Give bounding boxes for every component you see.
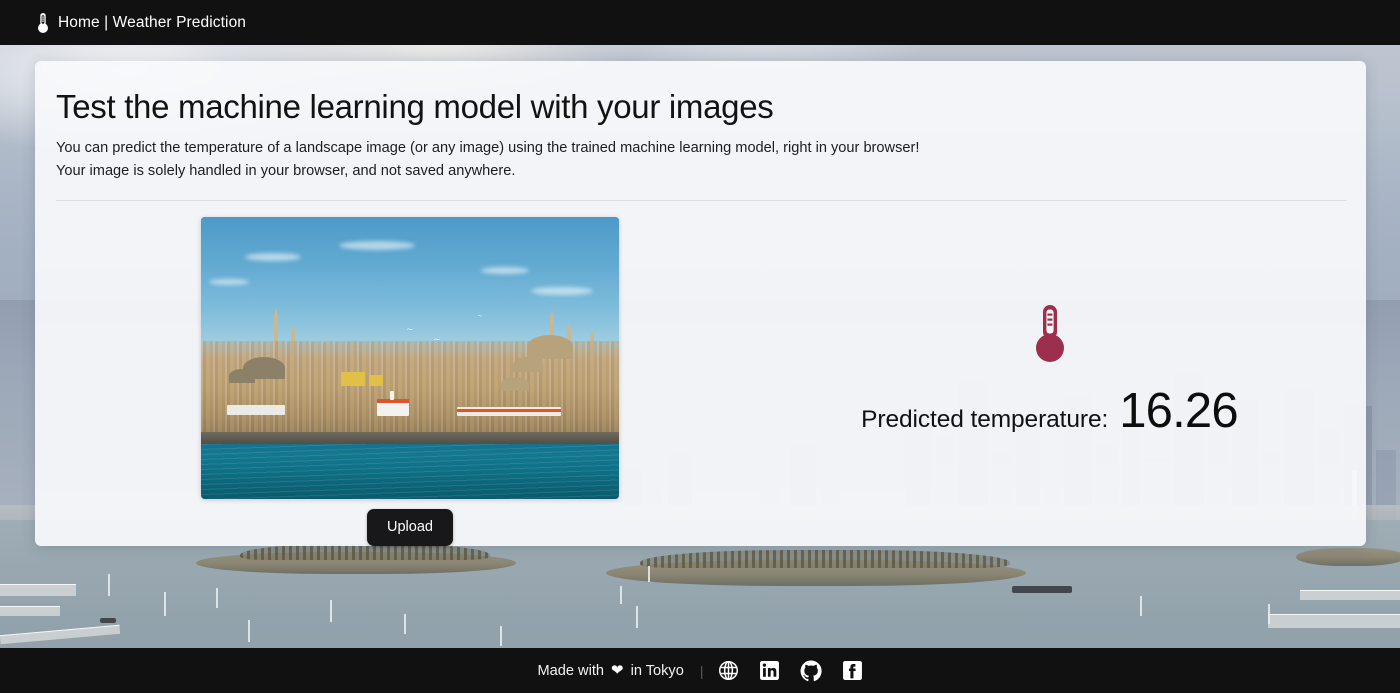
description-block: You can predict the temperature of a lan… (56, 137, 1344, 183)
description-line-2: Your image is solely handled in your bro… (56, 160, 1344, 183)
linkedin-icon[interactable] (759, 660, 780, 681)
github-icon[interactable] (800, 660, 822, 682)
page-title: Test the machine learning model with you… (56, 87, 1344, 127)
facebook-icon[interactable] (842, 660, 863, 681)
section-divider (56, 200, 1347, 201)
bird-icon: ∼ (477, 313, 483, 320)
footer-credit: Made with ❤ in Tokyo (537, 663, 683, 679)
thermometer-icon (36, 12, 50, 34)
bird-icon: ∼ (406, 325, 414, 334)
top-navbar: Home | Weather Prediction (0, 0, 1400, 45)
preview-water (201, 444, 619, 499)
main-card: Test the machine learning model with you… (35, 61, 1366, 546)
footer-made-with-label: Made with (537, 663, 604, 679)
image-preview[interactable]: ∼ ∼ ∼ ∼ (201, 217, 619, 499)
thermometer-icon (1032, 303, 1068, 365)
upload-column: ∼ ∼ ∼ ∼ (55, 217, 755, 546)
prediction-column: Predicted temperature: 16.26 (755, 217, 1344, 546)
footer-separator: | (700, 663, 704, 679)
upload-button[interactable]: Upload (367, 509, 453, 546)
prediction-result: Predicted temperature: 16.26 (861, 387, 1238, 436)
content-row: ∼ ∼ ∼ ∼ (55, 217, 1344, 546)
description-line-1: You can predict the temperature of a lan… (56, 137, 1344, 160)
social-links (718, 660, 863, 682)
navbar-brand-link[interactable]: Home | Weather Prediction (36, 12, 246, 34)
prediction-value: 16.26 (1119, 387, 1238, 436)
globe-icon[interactable] (718, 660, 739, 681)
page-footer: Made with ❤ in Tokyo | (0, 648, 1400, 693)
heart-icon: ❤ (611, 663, 624, 678)
navbar-brand-label: Home | Weather Prediction (58, 14, 246, 32)
footer-location-label: in Tokyo (631, 663, 684, 679)
prediction-label: Predicted temperature: (861, 406, 1108, 434)
